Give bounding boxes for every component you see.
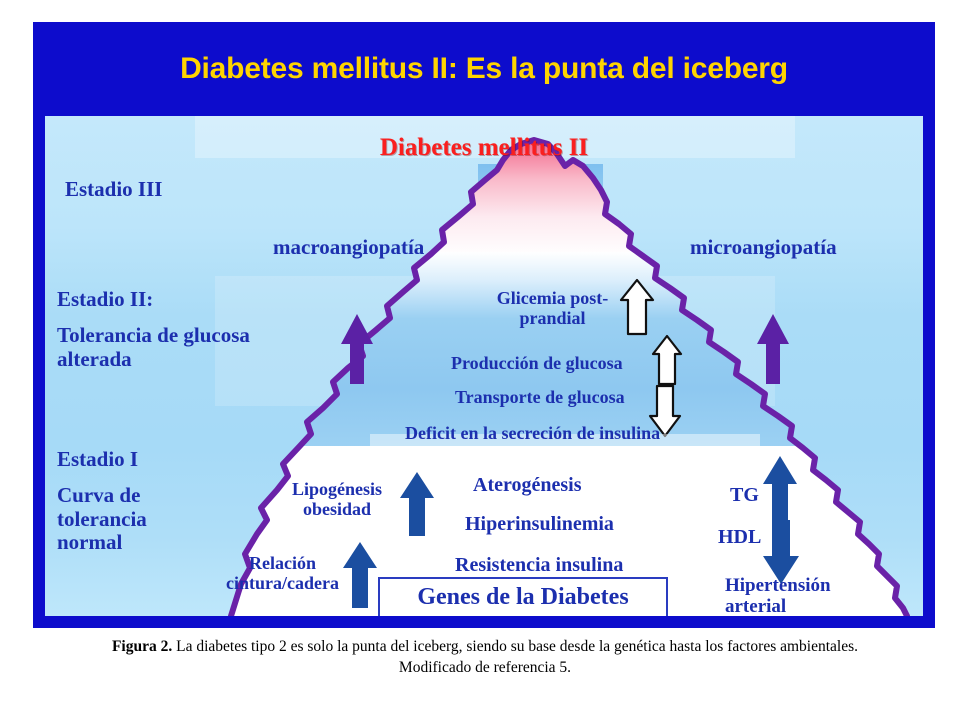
genes-box-label: Genes de la Diabetes xyxy=(417,584,628,611)
stage-label-estadio-iii: Estadio III xyxy=(65,178,162,202)
stage-label-estadio-ii: Estadio II: xyxy=(57,288,153,312)
diabetes-mellitus-heading: Diabetes mellitus II xyxy=(45,134,923,162)
label-lipogenesis-obesidad: Lipogénesis obesidad xyxy=(277,479,397,519)
slide-title: Diabetes mellitus II: Es la punta del ic… xyxy=(164,50,804,88)
label-microangiopatia: microangiopatía xyxy=(690,236,837,260)
figure-caption-text: La diabetes tipo 2 es solo la punta del … xyxy=(172,638,858,676)
genes-de-la-diabetes-box: Genes de la Diabetes xyxy=(378,577,668,616)
figure-caption: Figura 2. La diabetes tipo 2 es solo la … xyxy=(80,636,890,679)
stage-label-estadio-i: Estadio I xyxy=(57,448,138,472)
label-aterogenesis: Aterogénesis xyxy=(473,474,582,496)
label-hdl: HDL xyxy=(718,526,761,548)
slide-frame: Diabetes mellitus II: Es la punta del ic… xyxy=(33,22,935,628)
iceberg-diagram: Diabetes mellitus II Estadio III Estadio… xyxy=(45,116,923,616)
label-glicemia-postprandial: Glicemia post- prandial xyxy=(475,288,630,328)
label-transporte-de-glucosa: Transporte de glucosa xyxy=(455,387,625,407)
stage-desc-tolerancia-alterada: Tolerancia de glucosa alterada xyxy=(57,324,250,371)
label-produccion-de-glucosa: Producción de glucosa xyxy=(451,353,623,373)
label-deficit-secrecion-insulina: Deficit en la secreción de insulina xyxy=(405,423,660,443)
title-band: Diabetes mellitus II: Es la punta del ic… xyxy=(33,22,935,116)
figure-number: Figura 2. xyxy=(112,638,172,655)
stage-desc-curva-normal: Curva de tolerancia normal xyxy=(57,484,147,555)
label-macroangiopatia: macroangiopatía xyxy=(273,236,424,260)
microangiopatia-arrow-icon xyxy=(757,314,789,384)
label-tg: TG xyxy=(730,484,759,506)
label-hiperinsulinemia: Hiperinsulinemia xyxy=(465,513,614,535)
label-hipertension-arterial: Hipertensión arterial xyxy=(725,575,831,616)
label-relacion-cintura-cadera: Relación cintura/cadera xyxy=(210,553,355,593)
label-resistencia-insulina: Resistencia insulina xyxy=(455,554,623,576)
